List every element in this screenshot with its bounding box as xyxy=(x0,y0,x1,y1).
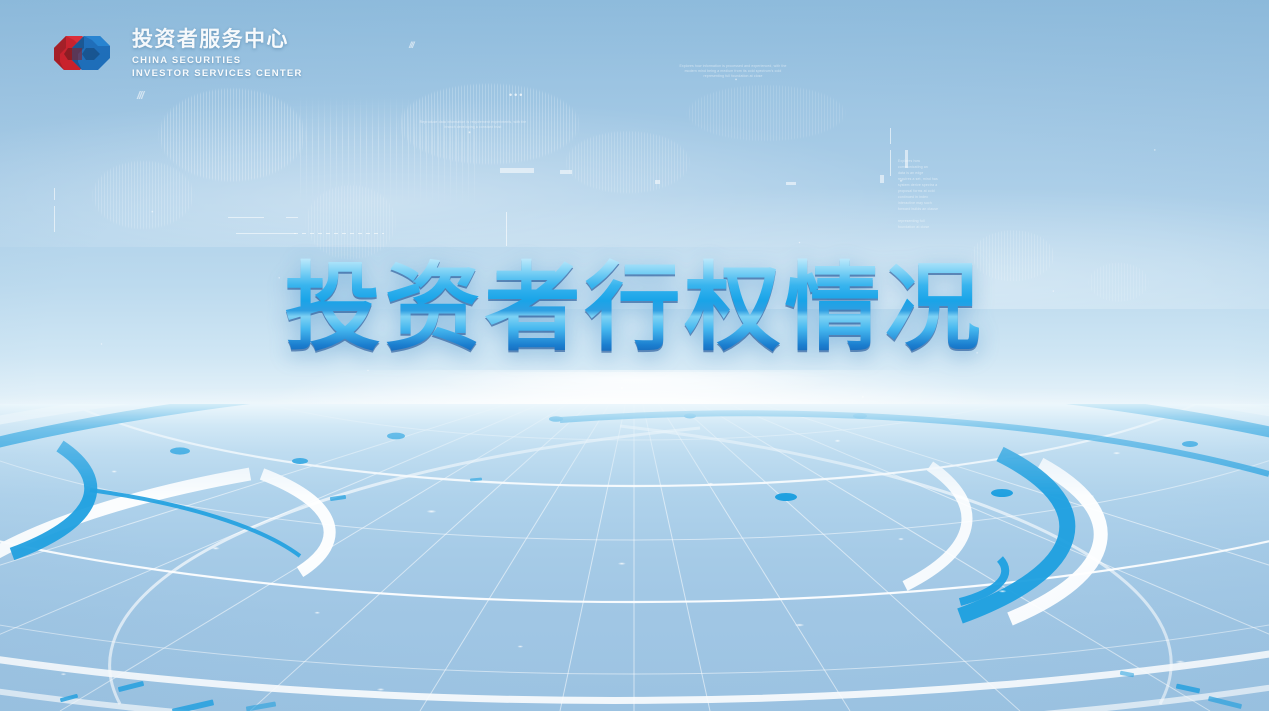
decor-microtext-top: Explores how information is processed an… xyxy=(648,64,818,79)
ground-plane xyxy=(0,404,1269,711)
brand-name-cn: 投资者服务中心 xyxy=(132,27,303,51)
brand-name-en-line1: CHINA SECURITIES xyxy=(132,55,303,68)
hud-horizontal-bar xyxy=(286,217,298,218)
hud-block-glyph xyxy=(655,180,660,184)
presentation-slide: Explores how information is processed an… xyxy=(0,0,1269,711)
hud-block-glyph xyxy=(905,150,908,168)
hud-block-glyph xyxy=(560,170,572,174)
hud-block-glyph xyxy=(786,182,796,185)
brand-header[interactable]: 投资者服务中心 CHINA SECURITIES INVESTOR SERVIC… xyxy=(42,24,303,84)
decor-microtext-mid: Reproduce data information is requiremen… xyxy=(368,120,578,130)
decor-slash-mark-small: /// xyxy=(409,40,414,50)
hud-horizontal-bar xyxy=(228,217,264,218)
hud-vertical-bar xyxy=(890,128,891,144)
decor-dots: ••• xyxy=(509,90,524,100)
hud-block-glyph xyxy=(880,175,884,183)
hud-vertical-bar xyxy=(54,188,55,200)
hud-block-glyph xyxy=(500,168,534,173)
hud-horizontal-bar xyxy=(236,233,296,234)
decor-slash-mark: /// xyxy=(137,90,143,102)
hud-vertical-bar xyxy=(506,212,507,246)
ground-particles xyxy=(0,404,1269,711)
hud-vertical-bar xyxy=(890,150,891,176)
hud-vertical-bar xyxy=(54,206,55,232)
decor-microtext-right: Explores how communicating an data is an… xyxy=(898,158,966,230)
csisc-logo-icon xyxy=(42,24,118,84)
brand-name-en: CHINA SECURITIES INVESTOR SERVICES CENTE… xyxy=(132,55,303,81)
brand-name-en-line2: INVESTOR SERVICES CENTER xyxy=(132,68,303,81)
hud-dashed-line xyxy=(294,233,384,234)
brand-text: 投资者服务中心 CHINA SECURITIES INVESTOR SERVIC… xyxy=(132,27,303,81)
vertical-scanline-grid xyxy=(300,96,480,206)
